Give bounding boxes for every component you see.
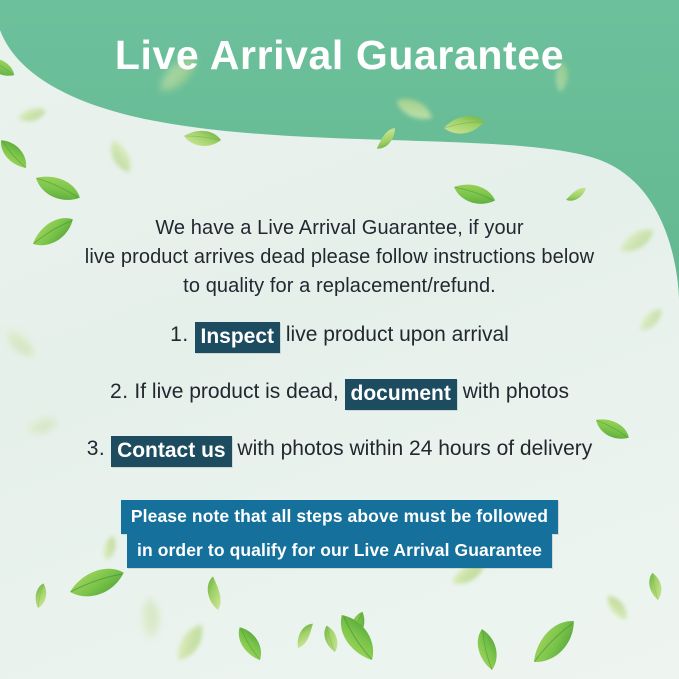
intro-line-3: to quality for a replacement/refund. <box>60 272 619 301</box>
step-text-1: live product upon arrival <box>286 323 509 346</box>
step-text-2-after: with photos <box>463 380 569 403</box>
intro-line-1: We have a Live Arrival Guarantee, if you… <box>60 214 619 243</box>
step-number-1: 1. <box>170 323 189 346</box>
instruction-steps-list: 1. Inspect live product upon arrival 2. … <box>0 318 679 489</box>
intro-line-2: live product arrives dead please follow … <box>60 243 619 272</box>
step-highlight-document: document <box>345 379 457 410</box>
live-arrival-guarantee-poster: Live Arrival Guarantee <box>0 0 679 679</box>
step-highlight-inspect: Inspect <box>195 322 281 353</box>
step-text-2-before: If live product is dead, <box>134 380 338 403</box>
intro-paragraph: We have a Live Arrival Guarantee, if you… <box>60 214 619 301</box>
step-highlight-contact-us: Contact us <box>111 436 232 467</box>
note-banner: Please note that all steps above must be… <box>0 500 679 568</box>
step-item-2: 2. If live product is dead, document wit… <box>0 375 679 410</box>
step-number-3: 3. <box>87 437 106 460</box>
note-banner-line-2: in order to qualify for our Live Arrival… <box>127 534 552 568</box>
step-text-3: with photos within 24 hours of delivery <box>237 437 592 460</box>
step-item-1: 1. Inspect live product upon arrival <box>0 318 679 353</box>
poster-content: We have a Live Arrival Guarantee, if you… <box>0 0 679 679</box>
step-number-2: 2. <box>110 380 129 403</box>
note-banner-line-1: Please note that all steps above must be… <box>121 500 558 534</box>
step-item-3: 3. Contact us with photos within 24 hour… <box>0 432 679 467</box>
